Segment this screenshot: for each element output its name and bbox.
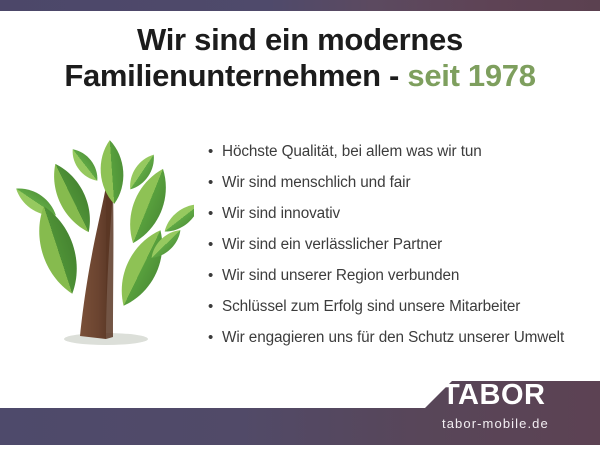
logo-wordmark: TABOR	[442, 380, 592, 410]
tree-logo-illustration	[14, 140, 194, 355]
bullet-marker-icon: •	[208, 142, 222, 162]
slide-canvas: Wir sind ein modernes Familienunternehme…	[0, 0, 600, 450]
list-item: • Schlüssel zum Erfolg sind unsere Mitar…	[208, 297, 598, 328]
list-item-label: Wir sind innovativ	[222, 204, 340, 224]
list-item-label: Schlüssel zum Erfolg sind unsere Mitarbe…	[222, 297, 520, 317]
list-item: • Wir sind ein verlässlicher Partner	[208, 235, 598, 266]
bullet-marker-icon: •	[208, 297, 222, 317]
bullet-marker-icon: •	[208, 235, 222, 255]
list-item: • Höchste Qualität, bei allem was wir tu…	[208, 142, 598, 173]
top-accent-bar	[0, 0, 600, 11]
list-item-label: Wir sind unserer Region verbunden	[222, 266, 459, 286]
list-item-label: Wir sind ein verlässlicher Partner	[222, 235, 442, 255]
bullet-marker-icon: •	[208, 328, 222, 348]
list-item-label: Wir engagieren uns für den Schutz unsere…	[222, 328, 564, 348]
logo-tagline: tabor-mobile.de	[442, 416, 592, 432]
headline-line-2: Familienunternehmen - seit 1978	[0, 58, 600, 94]
brand-logo[interactable]: TABOR tabor-mobile.de	[442, 380, 592, 432]
headline-line-1: Wir sind ein modernes	[0, 22, 600, 58]
bullet-marker-icon: •	[208, 173, 222, 193]
page-title: Wir sind ein modernes Familienunternehme…	[0, 22, 600, 94]
list-item-label: Wir sind menschlich und fair	[222, 173, 410, 193]
headline-accent: seit 1978	[407, 58, 535, 93]
bullet-marker-icon: •	[208, 204, 222, 224]
list-item: • Wir sind unserer Region verbunden	[208, 266, 598, 297]
list-item-label: Höchste Qualität, bei allem was wir tun	[222, 142, 482, 162]
leaf	[99, 140, 126, 205]
list-item: • Wir sind menschlich und fair	[208, 173, 598, 204]
benefits-list: • Höchste Qualität, bei allem was wir tu…	[208, 142, 598, 359]
headline-line-2-main: Familienunternehmen -	[64, 58, 407, 93]
list-item: • Wir sind innovativ	[208, 204, 598, 235]
bullet-marker-icon: •	[208, 266, 222, 286]
tree-trunk-shade	[106, 186, 113, 339]
bottom-white-strip	[0, 445, 600, 450]
list-item: • Wir engagieren uns für den Schutz unse…	[208, 328, 598, 359]
